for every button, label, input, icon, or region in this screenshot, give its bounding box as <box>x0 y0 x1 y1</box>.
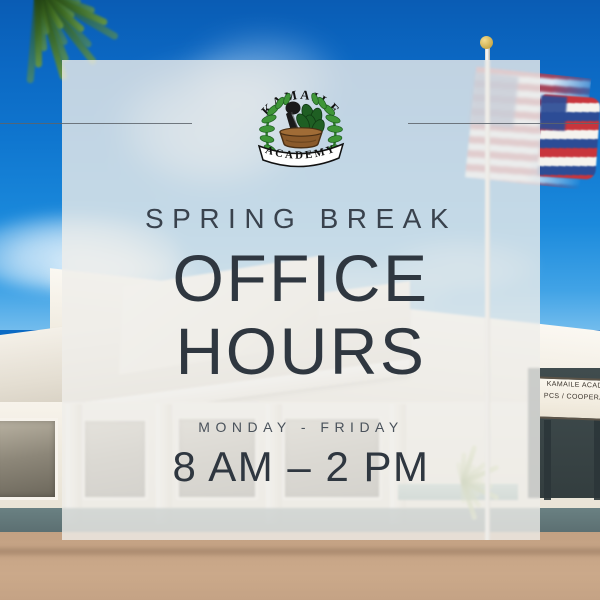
poster-canvas: KAMAILE ACADEMY PCS / COOPERATION KAMAIL… <box>0 0 600 600</box>
ground-seam <box>0 548 600 555</box>
wall-sign-line-2: PCS / COOPERATION <box>540 391 600 406</box>
building-window <box>0 418 58 500</box>
kicker-spring-break: SPRING BREAK <box>62 205 540 233</box>
days-label: MONDAY - FRIDAY <box>62 420 540 434</box>
time-range-label: 8 AM – 2 PM <box>62 446 540 488</box>
flagpole-finial <box>480 36 493 49</box>
wall-banner-sign: KAMAILE ACADEMY PCS / COOPERATION <box>540 376 600 421</box>
wall-post <box>544 420 551 500</box>
hawaii-flag-canton <box>539 95 567 131</box>
headline-hours: HOURS <box>62 318 540 384</box>
wall-post <box>594 420 600 500</box>
poster-text-block: SPRING BREAK OFFICE HOURS MONDAY - FRIDA… <box>62 60 540 540</box>
ground-surface <box>0 532 600 600</box>
headline-office: OFFICE <box>62 245 540 311</box>
